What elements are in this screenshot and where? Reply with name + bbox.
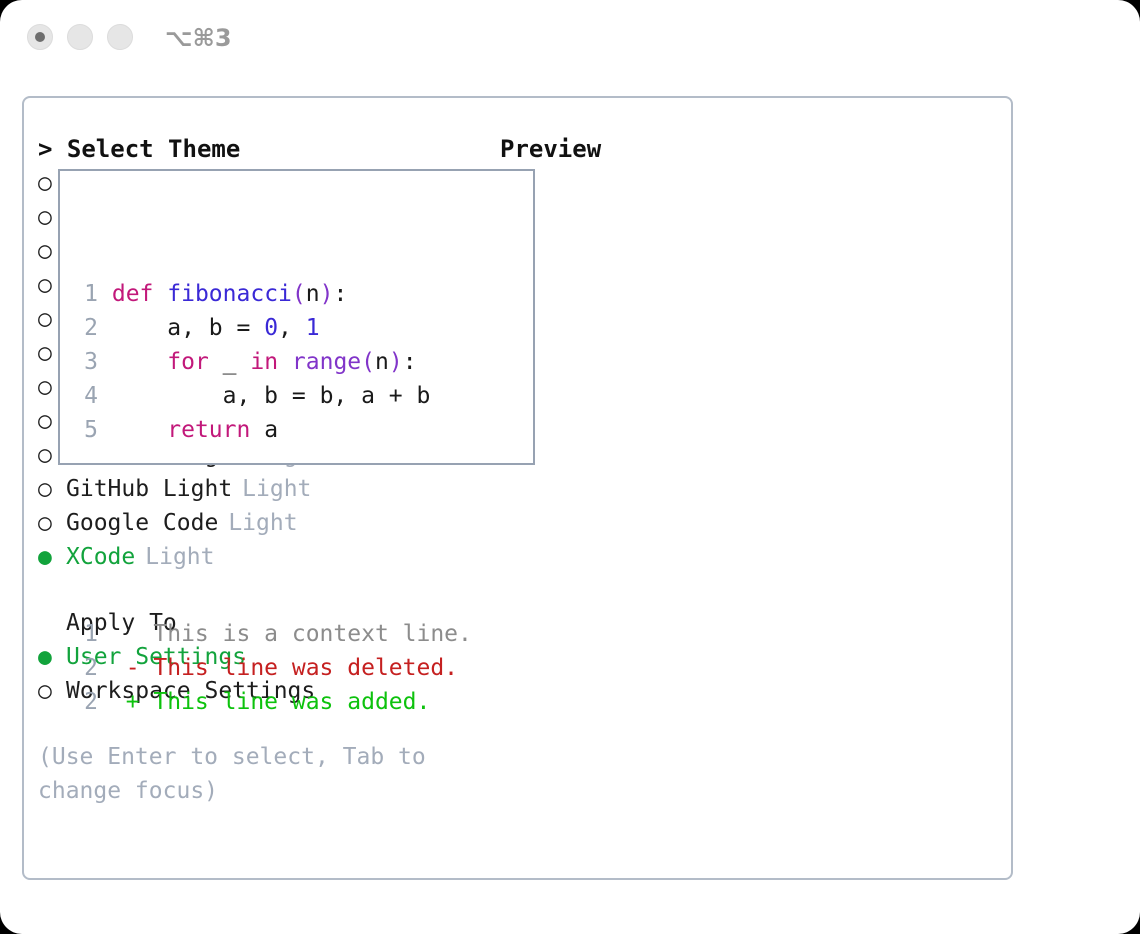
code-token: fibonacci xyxy=(167,281,292,307)
code-token xyxy=(153,281,167,307)
code-token: n xyxy=(375,349,389,375)
line-number: 2 xyxy=(72,311,98,345)
code-token: _ xyxy=(209,349,251,375)
code-token: a, b = b, a + b xyxy=(112,383,431,409)
diff-text: This is a context line. xyxy=(98,621,472,647)
code-token: 0 xyxy=(264,315,278,341)
code-token: ) xyxy=(389,349,403,375)
code-token: : xyxy=(403,349,417,375)
diff-text: - This line was deleted. xyxy=(98,655,458,681)
record-dot-inner xyxy=(35,32,45,42)
code-line: 3 for _ in range(n): xyxy=(72,345,472,379)
code-line: 5 return a xyxy=(72,413,472,447)
code-diff-spacer xyxy=(72,515,472,549)
preview-title: Preview xyxy=(500,132,1000,166)
diff-line: 1 This is a context line. xyxy=(72,617,472,651)
record-dot-icon[interactable] xyxy=(27,24,53,50)
preview-box: 1 def fibonacci(n):2 a, b = 0, 13 for _ … xyxy=(58,169,535,465)
code-token: , xyxy=(278,315,306,341)
diff-text: + This line was added. xyxy=(98,689,430,715)
title-bar: ⌥⌘3 xyxy=(0,0,1140,80)
code-token: ( xyxy=(361,349,375,375)
radio-unselected-icon[interactable]: ○ xyxy=(38,674,66,708)
code-token: : xyxy=(333,281,347,307)
traffic-light-group xyxy=(27,24,133,50)
line-number: 1 xyxy=(72,617,98,651)
code-line: 1 def fibonacci(n): xyxy=(72,277,472,311)
code-token: a, b = xyxy=(112,315,264,341)
diff-line: 2 + This line was added. xyxy=(72,685,472,719)
radio-selected-icon[interactable]: ● xyxy=(38,540,66,574)
code-token: n xyxy=(306,281,320,307)
code-token: return xyxy=(167,417,250,443)
diff-line: 2 - This line was deleted. xyxy=(72,651,472,685)
code-token: range xyxy=(292,349,361,375)
code-token xyxy=(112,349,167,375)
code-line: 2 a, b = 0, 1 xyxy=(72,311,472,345)
code-token: def xyxy=(112,281,154,307)
app-window: ⌥⌘3 > Select Theme ○ANSIDark○Atom OneDar… xyxy=(0,0,1140,934)
line-number: 5 xyxy=(72,413,98,447)
code-token: a xyxy=(250,417,278,443)
radio-unselected-icon[interactable]: ○ xyxy=(38,472,66,506)
main-panel: > Select Theme ○ANSIDark○Atom OneDark○Ay… xyxy=(22,96,1013,880)
code-token: in xyxy=(250,349,278,375)
line-number: 4 xyxy=(72,379,98,413)
code-token xyxy=(278,349,292,375)
radio-unselected-icon[interactable]: ○ xyxy=(38,506,66,540)
window-dot-3-icon[interactable] xyxy=(107,24,133,50)
code-preview: 1 def fibonacci(n):2 a, b = 0, 13 for _ … xyxy=(72,209,472,787)
radio-selected-icon[interactable]: ● xyxy=(38,640,66,674)
code-token: 1 xyxy=(306,315,320,341)
code-token: ( xyxy=(292,281,306,307)
code-line: 4 a, b = b, a + b xyxy=(72,379,472,413)
keyboard-shortcut-label: ⌥⌘3 xyxy=(165,22,232,54)
line-number: 2 xyxy=(72,651,98,685)
diff-sample: 1 This is a context line.2 - This line w… xyxy=(72,617,472,719)
code-sample: 1 def fibonacci(n):2 a, b = 0, 13 for _ … xyxy=(72,277,472,447)
line-number: 2 xyxy=(72,685,98,719)
code-token: for xyxy=(167,349,209,375)
line-number: 1 xyxy=(72,277,98,311)
select-theme-title: > Select Theme xyxy=(38,132,498,166)
window-dot-2-icon[interactable] xyxy=(67,24,93,50)
preview-column: Preview xyxy=(500,132,1000,166)
code-token xyxy=(112,417,167,443)
line-number: 3 xyxy=(72,345,98,379)
code-token: ) xyxy=(320,281,334,307)
